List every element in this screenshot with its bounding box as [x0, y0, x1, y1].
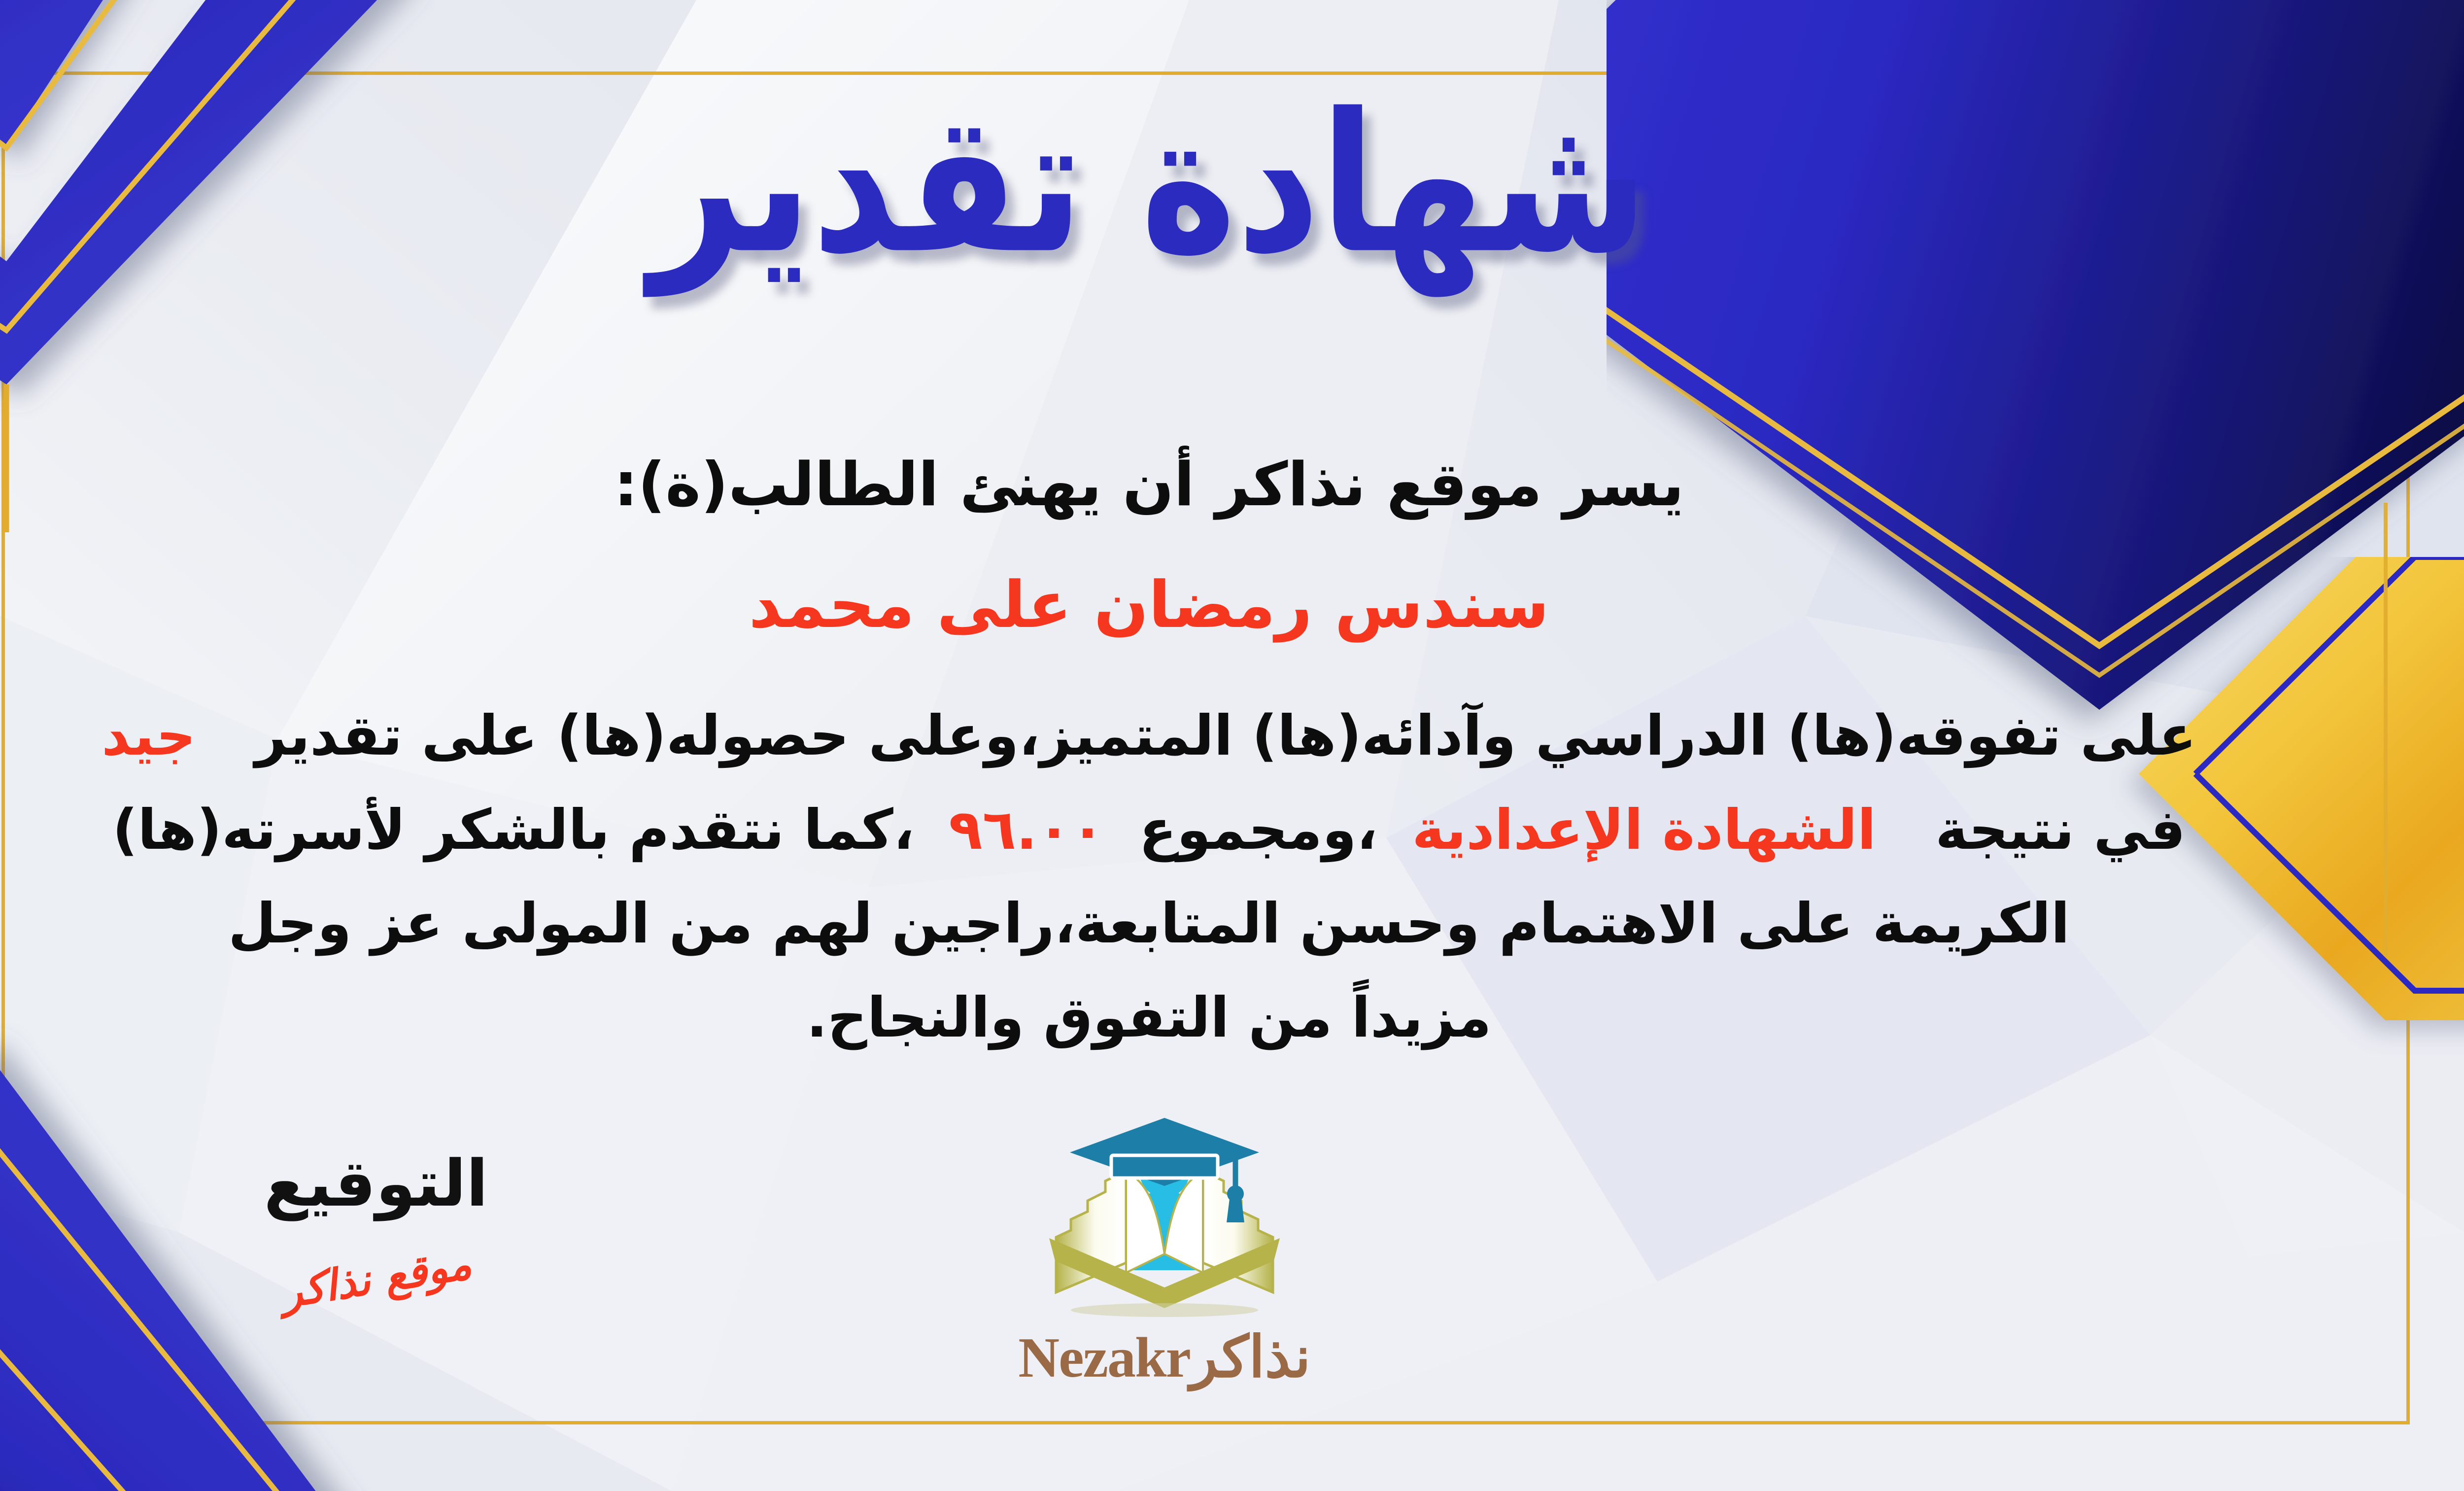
- closing-wish-line: مزيداً من التفوق والنجاح.: [11, 971, 2287, 1065]
- certificate-title: شهادة تقدير: [650, 74, 1648, 295]
- certificate-name: الشهادة الإعدادية: [1412, 798, 1876, 862]
- family-thanks-line: الكريمة على الاهتمام وحسن المتابعة،راجين…: [11, 877, 2287, 971]
- greeting-line: يسر موقع نذاكر أن يهنئ الطالب(ة):: [11, 434, 2287, 536]
- logo-arabic: نذاكر: [1190, 1326, 1311, 1389]
- logo-latin: Nezakr: [1018, 1326, 1190, 1389]
- site-logo: نذاكرNezakr: [977, 1114, 1352, 1391]
- certificate-title-area: شهادة تقدير: [0, 74, 2464, 261]
- achievement-text: على تفوقه(ها) الدراسي وآدائه(ها) المتميز…: [255, 704, 2196, 768]
- achievement-line: على تفوقه(ها) الدراسي وآدائه(ها) المتميز…: [11, 689, 2287, 783]
- result-line: في نتيجةالشهادة الإعدادية،ومجموع٩٦.٠٠،كم…: [11, 783, 2287, 877]
- certificate-body: يسر موقع نذاكر أن يهنئ الطالب(ة): سندس ر…: [11, 434, 2287, 1065]
- logo-wordmark: نذاكرNezakr: [977, 1324, 1352, 1391]
- total-label: ،ومجموع: [1139, 798, 1377, 862]
- graduate-book-icon: [1036, 1114, 1293, 1321]
- total-score: ٩٦.٠٠: [949, 798, 1104, 862]
- certificate-canvas: شهادة تقدير يسر موقع نذاكر أن يهنئ الطال…: [0, 0, 2464, 1491]
- result-prefix: في نتيجة: [1935, 798, 2186, 862]
- grade-value: جيد: [102, 704, 196, 768]
- signature-block: التوقيع موقع نذاكر: [218, 1148, 534, 1303]
- signature-label: التوقيع: [218, 1148, 534, 1219]
- thanks-prefix: ،كما نتقدم بالشكر لأسرته(ها): [112, 798, 914, 862]
- student-name: سندس رمضان على محمد: [11, 551, 2287, 659]
